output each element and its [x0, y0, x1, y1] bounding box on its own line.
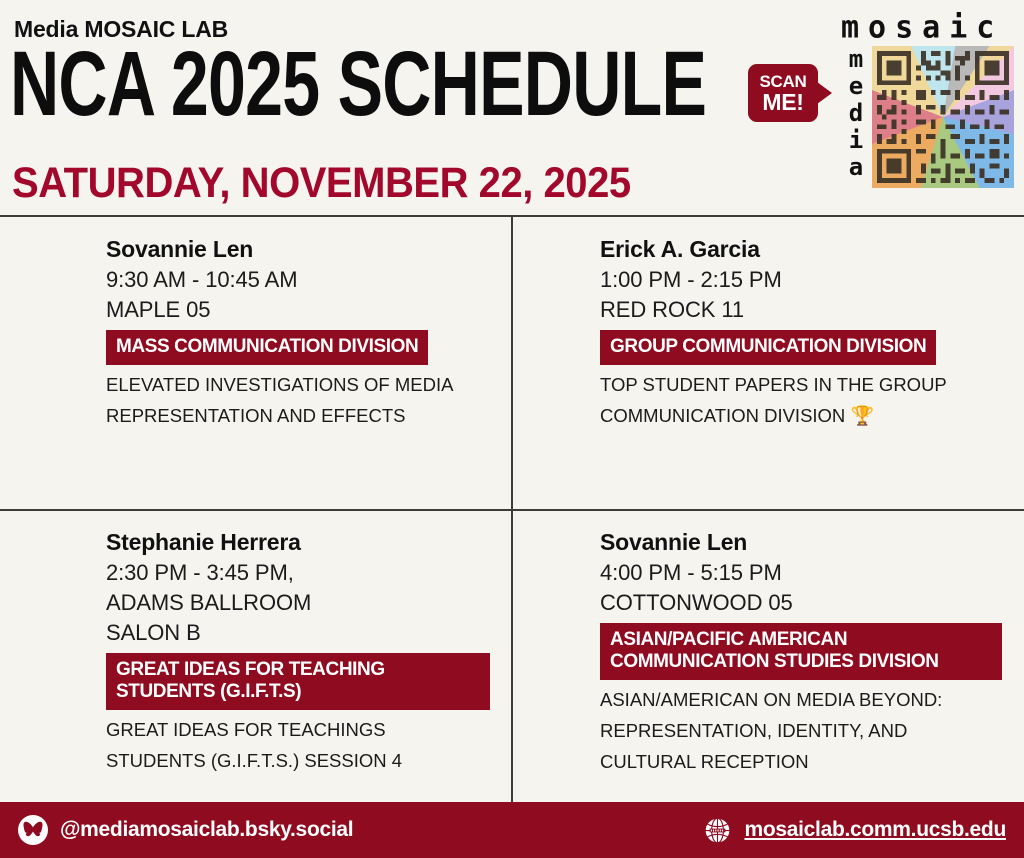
session-location: ADAMS BALLROOM: [106, 588, 490, 618]
scan-me-line2: ME!: [762, 91, 803, 114]
session-card[interactable]: Erick A. Garcia 1:00 PM - 2:15 PM RED RO…: [512, 217, 1024, 510]
scan-me-badge: SCAN ME!: [748, 64, 818, 122]
poster-header: Media MOSAIC LAB NCA 2025 SCHEDULE SATUR…: [0, 0, 1024, 215]
session-description: GREAT IDEAS FOR TEACHINGS STUDENTS (G.I.…: [106, 714, 490, 776]
session-card[interactable]: Stephanie Herrera 2:30 PM - 3:45 PM, ADA…: [0, 510, 512, 803]
media-vertical-wordmark: m e d i a: [840, 46, 872, 181]
website-link[interactable]: mosaiclab.comm.ucsb.edu: [702, 815, 1006, 845]
schedule-grid: Sovannie Len 9:30 AM - 10:45 AM MAPLE 05…: [0, 215, 1024, 802]
session-card[interactable]: Sovannie Len 9:30 AM - 10:45 AM MAPLE 05…: [0, 217, 512, 510]
session-speaker: Sovannie Len: [106, 235, 490, 263]
qr-code-icon[interactable]: [872, 46, 1014, 188]
division-badge: MASS COMMUNICATION DIVISION: [106, 330, 428, 365]
poster: Media MOSAIC LAB NCA 2025 SCHEDULE SATUR…: [0, 0, 1024, 858]
globe-icon: [702, 815, 732, 845]
media-letter-d: d: [849, 100, 863, 127]
bluesky-handle[interactable]: @mediamosaiclab.bsky.social: [18, 815, 353, 845]
session-description: TOP STUDENT PAPERS IN THE GROUP COMMUNIC…: [600, 369, 1002, 432]
media-letter-e: e: [849, 73, 863, 100]
division-badge: ASIAN/PACIFIC AMERICAN COMMUNICATION STU…: [600, 623, 1002, 680]
media-letter-m: m: [849, 46, 863, 73]
butterfly-icon: [18, 815, 48, 845]
session-time: 9:30 AM - 10:45 AM: [106, 265, 490, 295]
session-description: ASIAN/AMERICAN ON MEDIA BEYOND: REPRESEN…: [600, 684, 1002, 777]
session-speaker: Stephanie Herrera: [106, 528, 490, 556]
page-title: NCA 2025 SCHEDULE: [10, 36, 706, 132]
session-speaker: Erick A. Garcia: [600, 235, 1002, 263]
session-speaker: Sovannie Len: [600, 528, 1002, 556]
trophy-icon: 🏆: [850, 406, 874, 427]
session-time: 4:00 PM - 5:15 PM: [600, 558, 1002, 588]
session-description: ELEVATED INVESTIGATIONS OF MEDIA REPRESE…: [106, 369, 490, 431]
website-url-text: mosaiclab.comm.ucsb.edu: [744, 818, 1006, 842]
session-time: 2:30 PM - 3:45 PM,: [106, 558, 490, 588]
session-card[interactable]: Sovannie Len 4:00 PM - 5:15 PM COTTONWOO…: [512, 510, 1024, 803]
media-letter-i: i: [849, 127, 863, 154]
poster-footer: @mediamosaiclab.bsky.social: [0, 802, 1024, 858]
session-location-2: SALON B: [106, 618, 490, 648]
scan-me-line1: SCAN: [760, 73, 807, 90]
session-time: 1:00 PM - 2:15 PM: [600, 265, 1002, 295]
media-letter-a: a: [849, 154, 863, 181]
division-badge: GROUP COMMUNICATION DIVISION: [600, 330, 936, 365]
mosaic-wordmark: mosaic: [841, 9, 1003, 46]
date-subtitle: SATURDAY, NOVEMBER 22, 2025: [12, 160, 631, 206]
session-location: RED ROCK 11: [600, 295, 1002, 325]
session-location: COTTONWOOD 05: [600, 588, 1002, 618]
session-description-text: TOP STUDENT PAPERS IN THE GROUP COMMUNIC…: [600, 374, 946, 426]
bluesky-handle-text: @mediamosaiclab.bsky.social: [60, 818, 353, 842]
division-badge: GREAT IDEAS FOR TEACHING STUDENTS (G.I.F…: [106, 653, 490, 710]
session-location: MAPLE 05: [106, 295, 490, 325]
